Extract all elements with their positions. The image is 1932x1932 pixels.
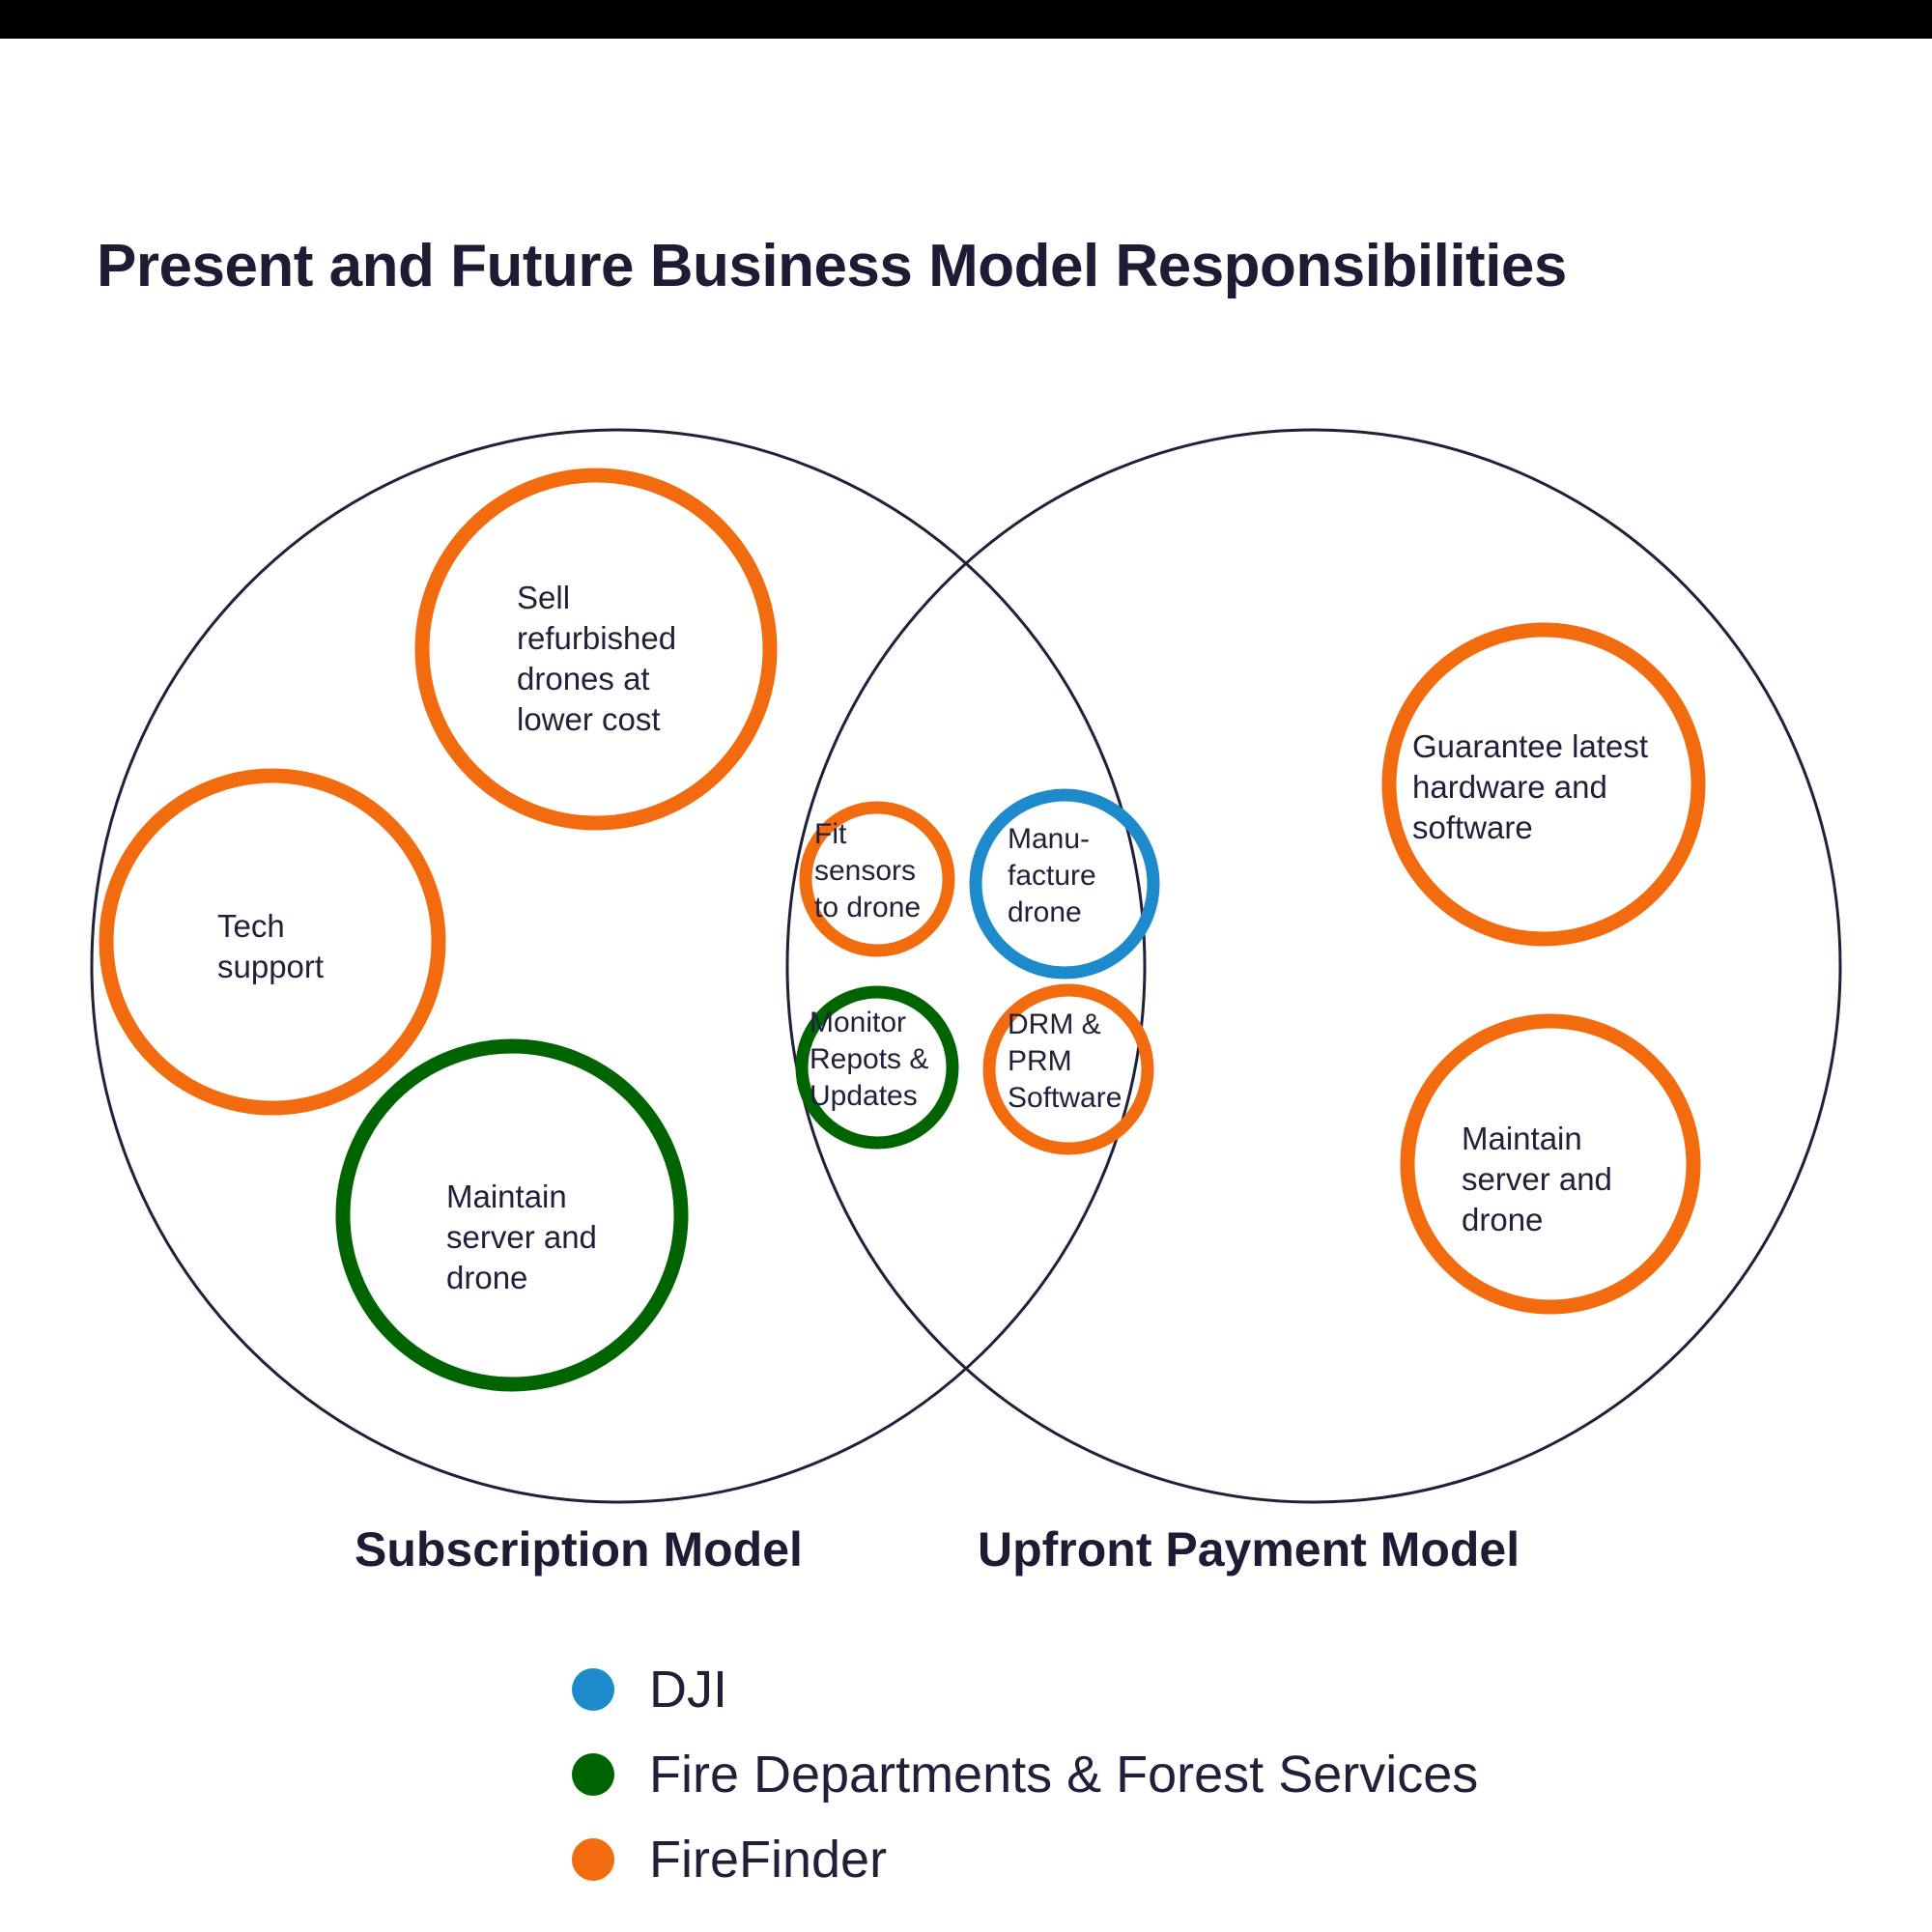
bubble-label-fit-sensors-to-drone: Fit sensors to drone [814, 816, 969, 926]
firefinder-color-swatch [572, 1838, 614, 1881]
bubble-circle-tech-support [106, 776, 439, 1108]
dji-color-swatch [572, 1668, 614, 1711]
set-ellipse-subscription-model [92, 430, 1145, 1502]
bubble-label-sell-refurbished-drones: Sell refurbished drones at lower cost [517, 578, 768, 740]
bubble-label-guarantee-latest-hardware-and-software: Guarantee latest hardware and software [1412, 726, 1712, 848]
bubble-circle-manufacture-drone [976, 795, 1153, 973]
legend-label-dji: DJI [649, 1660, 727, 1719]
bubble-circle-monitor-repots-and-updates [802, 992, 952, 1143]
legend-label-firefinder: FireFinder [649, 1830, 887, 1889]
bubble-label-tech-support: Tech support [217, 906, 469, 987]
legend: DJI Fire Departments & Forest Services F… [572, 1647, 1731, 1902]
legend-label-fire-departments: Fire Departments & Forest Services [649, 1745, 1478, 1804]
set-label-upfront-payment-model: Upfront Payment Model [978, 1521, 1520, 1577]
bubble-label-manufacture-drone: Manu- facture drone [1008, 821, 1162, 931]
legend-item-dji: DJI [572, 1647, 1731, 1732]
legend-item-fire-departments: Fire Departments & Forest Services [572, 1732, 1731, 1817]
page-title: Present and Future Business Model Respon… [97, 232, 1835, 300]
bubble-circle-maintain-server-and-drone-right [1407, 1021, 1693, 1307]
bubble-circle-maintain-server-and-drone-left [343, 1046, 681, 1384]
bubble-circle-guarantee-latest-hardware-and-software [1389, 630, 1698, 939]
legend-item-firefinder: FireFinder [572, 1817, 1731, 1902]
bubble-label-maintain-server-and-drone-left: Maintain server and drone [446, 1177, 697, 1298]
bubble-circle-fit-sensors-to-drone [806, 808, 949, 951]
bubble-circle-sell-refurbished-drones [422, 475, 770, 823]
bubble-label-drm-and-prm-software: DRM & PRM Software [1008, 1007, 1172, 1117]
venn-diagram-canvas: Present and Future Business Model Respon… [0, 0, 1932, 1932]
set-label-subscription-model: Subscription Model [355, 1521, 803, 1577]
fire-departments-color-swatch [572, 1753, 614, 1796]
set-ellipse-upfront-payment-model [787, 430, 1840, 1502]
bubble-circle-drm-and-prm-software [989, 990, 1148, 1149]
bubble-label-monitor-repots-and-updates: Monitor Repots & Updates [810, 1005, 974, 1115]
bubble-label-maintain-server-and-drone-right: Maintain server and drone [1462, 1119, 1722, 1240]
